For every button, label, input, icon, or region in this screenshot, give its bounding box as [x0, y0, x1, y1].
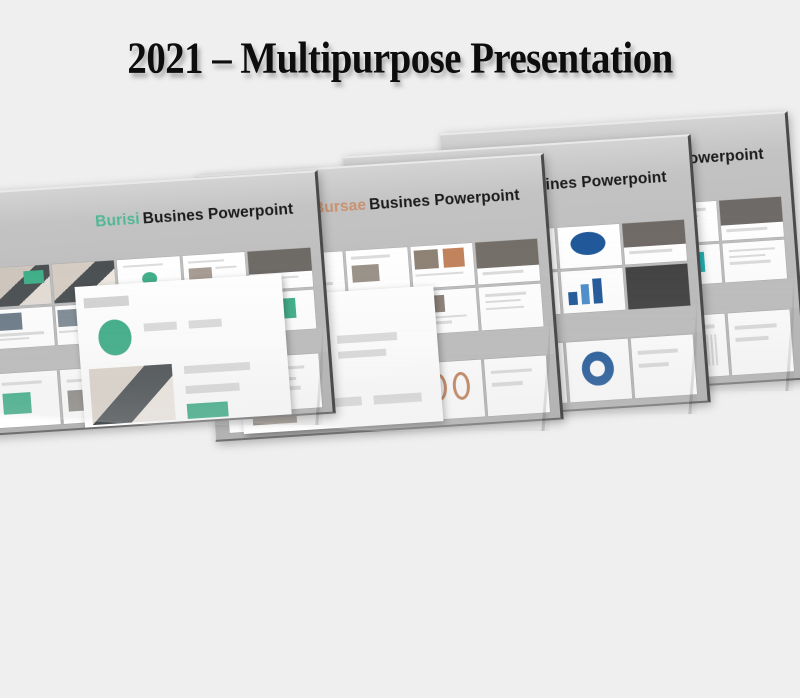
panel-burisi-wrap: BurisiBusines Powerpoint [0, 181, 323, 669]
slide-thumb[interactable] [719, 197, 784, 240]
slide-thumb[interactable] [625, 264, 690, 309]
slide-thumb[interactable] [484, 356, 550, 417]
slide-thumb[interactable] [561, 268, 626, 313]
page-title: 2021 – Multipurpose Presentation [127, 31, 672, 84]
slide-thumb[interactable] [566, 339, 632, 402]
slide-thumb[interactable] [722, 239, 787, 282]
panel-burisi-title: BurisiBusines Powerpoint [95, 201, 294, 232]
slide-thumb[interactable] [346, 247, 411, 294]
slide-thumb[interactable] [0, 307, 55, 350]
slide-thumb[interactable] [475, 238, 540, 285]
panel-burisi-brand: Burisi [95, 211, 141, 231]
slide-thumb[interactable] [0, 265, 52, 308]
slide-thumb[interactable] [410, 242, 475, 289]
panel-burisi-suffix: Busines Powerpoint [142, 201, 294, 228]
panel-burisi-body [0, 244, 333, 434]
slide-thumb[interactable] [557, 224, 622, 269]
title-area: 2021 – Multipurpose Presentation [0, 34, 800, 81]
panel-bursae-suffix: Busines Powerpoint [368, 187, 520, 214]
slide-thumb[interactable] [478, 284, 543, 331]
slide-thumb[interactable] [631, 335, 697, 398]
panel-bursae-title: BursaeBusines Powerpoint [312, 187, 520, 218]
slide-thumb[interactable] [0, 371, 61, 429]
slide-thumb[interactable] [622, 220, 687, 265]
slide-thumb[interactable] [727, 310, 793, 375]
featured-slide-burisi[interactable] [74, 274, 292, 435]
panel-burisi[interactable]: BurisiBusines Powerpoint [0, 170, 336, 436]
